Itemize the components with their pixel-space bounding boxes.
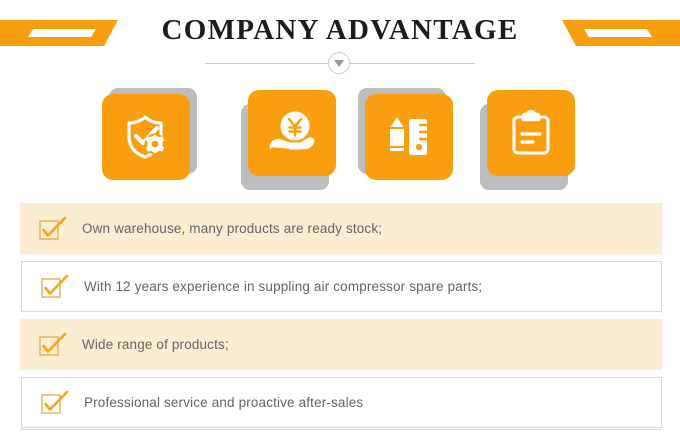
clipboard-list-icon xyxy=(505,107,557,159)
orange-slash-banner-right-icon xyxy=(550,18,680,48)
feature-icon-pencil-ruler[interactable] xyxy=(352,88,460,192)
chevron-down-circle-icon xyxy=(328,52,350,74)
divider-line-right xyxy=(340,63,475,64)
list-item-label: With 12 years experience in suppling air… xyxy=(84,279,482,294)
divider-line-left xyxy=(205,63,340,64)
advantage-list: Own warehouse, many products are ready s… xyxy=(20,203,662,435)
icon-tile xyxy=(365,94,453,180)
checked-checkbox-icon[interactable] xyxy=(39,390,71,416)
list-item-label: Wide range of products; xyxy=(82,337,229,352)
list-item[interactable]: Wide range of products; xyxy=(20,319,662,370)
list-item-label: Own warehouse, many products are ready s… xyxy=(82,221,382,236)
feature-icon-shield-check-gear[interactable] xyxy=(95,88,203,192)
list-item-label: Professional service and proactive after… xyxy=(84,395,363,410)
list-item[interactable]: With 12 years experience in suppling air… xyxy=(21,261,662,312)
list-item[interactable]: Professional service and proactive after… xyxy=(21,377,662,428)
chevron-down-triangle xyxy=(334,60,344,67)
divider xyxy=(0,50,680,78)
shield-check-gear-icon xyxy=(120,111,172,163)
header: COMPANY ADVANTAGE xyxy=(0,0,680,80)
hand-holding-yen-coin-icon xyxy=(266,107,318,159)
icon-tile xyxy=(487,90,575,176)
list-item[interactable]: Own warehouse, many products are ready s… xyxy=(20,203,662,254)
pencil-ruler-icon xyxy=(383,111,435,163)
company-advantage-banner: COMPANY ADVANTAGE xyxy=(0,0,680,443)
checked-checkbox-icon[interactable] xyxy=(37,216,69,242)
feature-icon-row xyxy=(0,88,680,192)
feature-icon-hand-holding-yen[interactable] xyxy=(230,88,338,192)
checked-checkbox-icon[interactable] xyxy=(39,274,71,300)
bottom-divider xyxy=(20,429,661,430)
icon-tile xyxy=(248,90,336,176)
feature-icon-clipboard[interactable] xyxy=(470,88,578,192)
icon-tile xyxy=(102,94,190,180)
checked-checkbox-icon[interactable] xyxy=(37,332,69,358)
